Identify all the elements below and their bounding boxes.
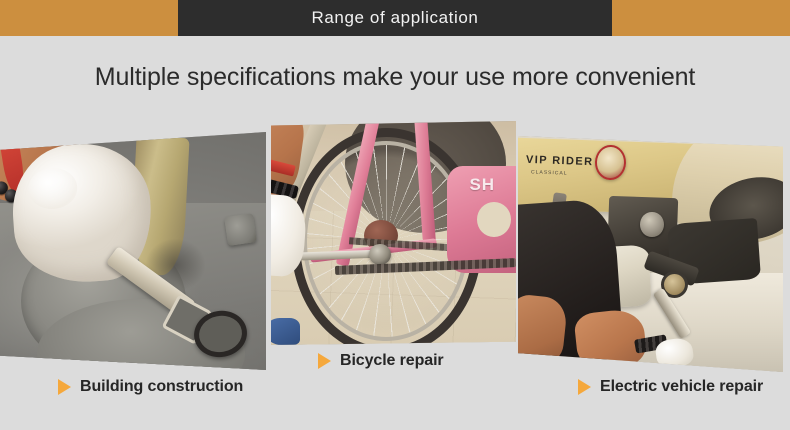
anchor-nut <box>224 213 257 245</box>
photo-electric-vehicle-repair: VIP RIDER CLASSICAL <box>518 136 783 372</box>
mounting-bolt <box>640 212 664 238</box>
caption-label: Building construction <box>80 378 243 396</box>
blue-shoe <box>271 318 300 345</box>
photo-panel-electric-vehicle-repair: VIP RIDER CLASSICAL <box>518 136 783 372</box>
caption-label: Electric vehicle repair <box>600 378 763 396</box>
photo-panel-building-construction <box>0 132 266 370</box>
glove-knuckle-highlight <box>27 166 80 211</box>
triangle-right-icon <box>318 353 331 369</box>
photo-panel-bicycle-repair: SH <box>271 121 516 345</box>
chain-guard-brand-text: SH <box>469 175 495 195</box>
scooter-brand-text: VIP RIDER <box>526 154 594 168</box>
caption-bicycle-repair: Bicycle repair <box>318 352 444 370</box>
brand-emblem-badge <box>594 145 626 181</box>
photo-building-construction <box>0 132 266 370</box>
triangle-right-icon <box>578 379 591 395</box>
caption-building-construction: Building construction <box>58 378 243 396</box>
caption-label: Bicycle repair <box>340 352 444 370</box>
photo-bicycle-repair: SH <box>271 121 516 345</box>
caption-electric-vehicle-repair: Electric vehicle repair <box>578 378 763 396</box>
product-feature-banner: Range of application Multiple specificat… <box>0 0 790 430</box>
triangle-right-icon <box>58 379 71 395</box>
